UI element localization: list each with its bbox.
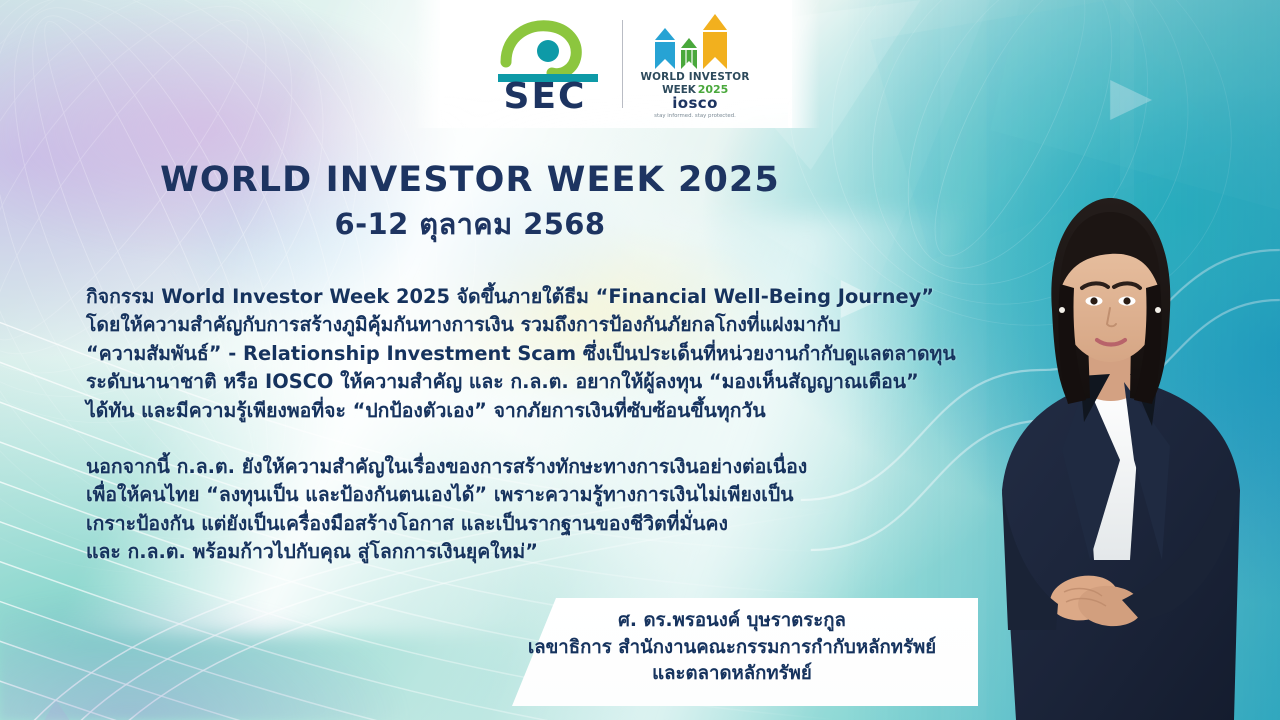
portrait-photo xyxy=(934,160,1280,720)
sec-logo-icon: SEC xyxy=(482,16,608,112)
body-line: และ ก.ล.ต. พร้อมก้าวไปกับคุณ สู่โลกการเง… xyxy=(86,538,946,566)
body-line: นอกจากนี้ ก.ล.ต. ยังให้ความสำคัญในเรื่อง… xyxy=(86,453,946,481)
logo-bar: SEC WORLD INVESTOR WEE xyxy=(440,0,792,128)
svg-text:SEC: SEC xyxy=(503,76,586,112)
logo-divider xyxy=(622,20,623,108)
body-line: ได้ทัน และมีความรู้เพียงพอที่จะ “ปกป้องต… xyxy=(86,397,946,425)
speaker-role-line1: เลขาธิการ สำนักงานคณะกรรมการกำกับหลักทรั… xyxy=(512,635,952,662)
body-line: กิจกรรม World Investor Week 2025 จัดขึ้น… xyxy=(86,283,946,311)
speaker-role-line2: และตลาดหลักทรัพย์ xyxy=(512,661,952,688)
page-title: WORLD INVESTOR WEEK 2025 xyxy=(0,160,940,201)
body-line: โดยให้ความสำคัญกับการสร้างภูมิคุ้มกันทาง… xyxy=(86,311,946,339)
paragraph-spacer xyxy=(86,425,946,453)
iosco-tagline: stay informed. stay protected. xyxy=(654,113,736,119)
presentation-slide: SEC WORLD INVESTOR WEE xyxy=(0,0,1280,720)
body-text: กิจกรรม World Investor Week 2025 จัดขึ้น… xyxy=(86,283,946,567)
body-line: เกราะป้องกัน แต่ยังเป็นเครื่องมือสร้างโอ… xyxy=(86,510,946,538)
body-line: ระดับนานาชาติ หรือ IOSCO ให้ความสำคัญ แล… xyxy=(86,368,946,396)
speaker-name: ศ. ดร.พรอนงค์ บุษราตระกูล xyxy=(512,608,952,635)
title-block: WORLD INVESTOR WEEK 2025 6-12 ตุลาคม 256… xyxy=(0,160,940,242)
speaker-caption: ศ. ดร.พรอนงค์ บุษราตระกูล เลขาธิการ สำนั… xyxy=(512,608,952,688)
body-line: เพื่อให้คนไทย “ลงทุนเป็น และป้องกันตนเอง… xyxy=(86,481,946,509)
wiw-line1: WORLD INVESTOR xyxy=(640,71,749,83)
body-line: “ความสัมพันธ์” - Relationship Investment… xyxy=(86,340,946,368)
world-investor-week-logo-icon: WORLD INVESTOR WEEK 2025 iosco stay info… xyxy=(639,8,751,120)
page-subtitle-date: 6-12 ตุลาคม 2568 xyxy=(0,207,940,242)
iosco-wordmark: iosco xyxy=(672,94,718,112)
